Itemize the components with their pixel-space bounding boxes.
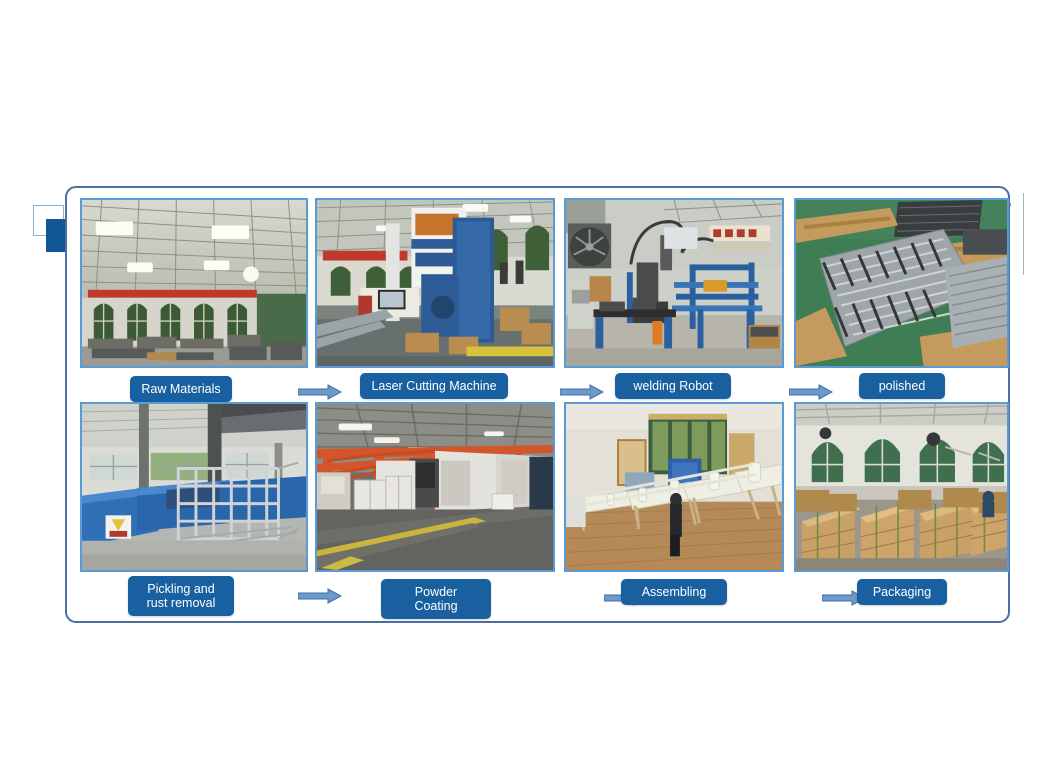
workflow-step-packaging[interactable]: Packaging [794, 402, 1009, 610]
laser-cutting-machine-photo [315, 198, 555, 368]
workflow-step-laser-cutting[interactable]: Laser Cutting Machine [315, 198, 555, 406]
step-label-badge[interactable]: Raw Materials [130, 376, 232, 402]
pickling-tanks-photo [80, 402, 308, 572]
workflow-frame: Raw Materials [65, 186, 1010, 623]
header-vertical-divider [1023, 193, 1025, 275]
welding-robot-photo [564, 198, 784, 368]
step-label-badge[interactable]: Packaging [857, 579, 947, 605]
workflow-row-top: Raw Materials [67, 198, 1012, 406]
workflow-step-welding-robot[interactable]: welding Robot [564, 198, 784, 406]
workflow-step-polished[interactable]: polished [794, 198, 1009, 406]
workflow-step-raw-materials[interactable]: Raw Materials [80, 198, 308, 406]
step-label-badge[interactable]: welding Robot [615, 373, 731, 399]
workflow-step-pickling[interactable]: Pickling and rust removal [80, 402, 308, 610]
workflow-step-powder-coating[interactable]: Powder Coating [315, 402, 555, 610]
page-header: Production Workflow Chart TOPMOST [0, 95, 1060, 167]
polished-parts-photo [794, 198, 1009, 368]
workflow-step-assembling[interactable]: Assembling [564, 402, 784, 610]
step-label-badge[interactable]: Pickling and rust removal [128, 576, 234, 616]
step-label-badge[interactable]: Laser Cutting Machine [360, 373, 508, 399]
step-label-badge[interactable]: Assembling [621, 579, 727, 605]
packaging-boxes-photo [794, 402, 1009, 572]
step-label-badge[interactable]: Powder Coating [381, 579, 491, 619]
step-label-badge[interactable]: polished [859, 373, 945, 399]
warehouse-raw-materials-photo [80, 198, 308, 368]
powder-coating-line-photo [315, 402, 555, 572]
workflow-row-bottom: Pickling and rust removal [67, 402, 1012, 610]
assembly-line-photo [564, 402, 784, 572]
